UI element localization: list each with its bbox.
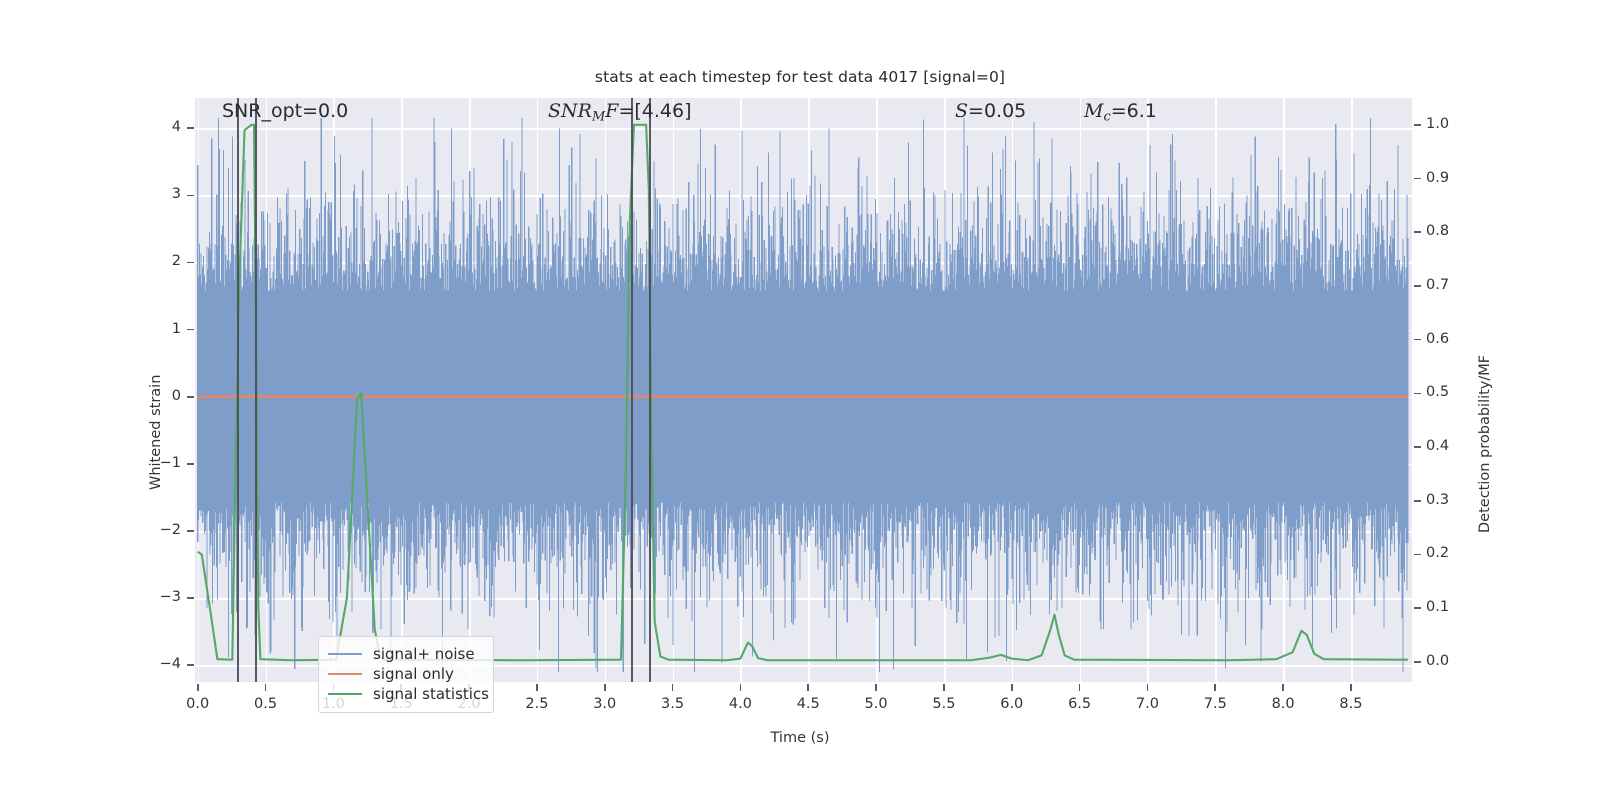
y-tick-label-left: 1 xyxy=(133,321,181,337)
y-tick-label-right: 0.9 xyxy=(1426,170,1478,186)
x-tick-label: 3.0 xyxy=(575,696,635,712)
x-tick-label: 4.0 xyxy=(710,696,770,712)
legend: signal+ noisesignal onlysignal statistic… xyxy=(318,636,494,713)
x-tick-mark xyxy=(672,684,674,691)
legend-label: signal statistics xyxy=(373,685,489,703)
annotation-snr-mf-tail: F xyxy=(605,100,618,122)
y-tick-mark-left xyxy=(187,597,194,599)
vertical-marker-line xyxy=(255,98,257,682)
y-tick-mark-right xyxy=(1414,393,1421,395)
y-tick-label-right: 0.2 xyxy=(1426,545,1478,561)
y-tick-label-right: 1.0 xyxy=(1426,116,1478,132)
plot-area xyxy=(195,98,1412,682)
x-tick-label: 4.5 xyxy=(778,696,838,712)
x-tick-label: 0.5 xyxy=(236,696,296,712)
x-tick-label: 6.0 xyxy=(982,696,1042,712)
y-tick-label-left: 3 xyxy=(133,186,181,202)
y-tick-label-right: 0.4 xyxy=(1426,438,1478,454)
x-tick-label: 0.0 xyxy=(168,696,228,712)
y-tick-mark-right xyxy=(1414,339,1421,341)
annotation-snr-mf-symbol: SNR xyxy=(548,100,592,122)
x-tick-label: 7.5 xyxy=(1185,696,1245,712)
figure-canvas: stats at each timestep for test data 401… xyxy=(0,0,1600,800)
x-tick-mark xyxy=(740,684,742,691)
annotation-s-value: =0.05 xyxy=(968,100,1026,122)
x-tick-mark xyxy=(265,684,267,691)
x-tick-mark xyxy=(875,684,877,691)
y-tick-label-left: −4 xyxy=(133,656,181,672)
x-tick-mark xyxy=(807,684,809,691)
x-tick-mark xyxy=(1214,684,1216,691)
y-tick-mark-right xyxy=(1414,446,1421,448)
annotation-s-symbol: S xyxy=(955,100,968,122)
legend-item[interactable]: signal statistics xyxy=(328,684,484,704)
y-axis-label-left: Whitened strain xyxy=(148,375,164,490)
y-tick-mark-left xyxy=(187,664,194,666)
legend-item[interactable]: signal only xyxy=(328,664,484,684)
y-tick-label-right: 0.7 xyxy=(1426,277,1478,293)
x-tick-mark xyxy=(1147,684,1149,691)
y-tick-label-left: −2 xyxy=(133,522,181,538)
page-title: stats at each timestep for test data 401… xyxy=(0,68,1600,86)
y-tick-mark-right xyxy=(1414,607,1421,609)
x-tick-label: 5.5 xyxy=(914,696,974,712)
legend-label: signal only xyxy=(373,665,454,683)
y-tick-mark-right xyxy=(1414,554,1421,556)
y-tick-mark-left xyxy=(187,262,194,264)
x-tick-label: 8.0 xyxy=(1253,696,1313,712)
y-tick-label-right: 0.0 xyxy=(1426,653,1478,669)
x-tick-mark xyxy=(1079,684,1081,691)
y-tick-mark-left xyxy=(187,195,194,197)
annotation-chirp-mass: Mc=6.1 xyxy=(1084,102,1157,124)
x-axis-label: Time (s) xyxy=(0,730,1600,746)
annotation-mc-value: =6.1 xyxy=(1111,100,1157,122)
vertical-marker-lines xyxy=(195,98,1412,682)
y-tick-mark-left xyxy=(187,329,194,331)
y-tick-mark-right xyxy=(1414,285,1421,287)
y-tick-mark-left xyxy=(187,396,194,398)
legend-label: signal+ noise xyxy=(373,645,475,663)
y-tick-label-left: 2 xyxy=(133,253,181,269)
y-tick-label-right: 0.1 xyxy=(1426,599,1478,615)
x-tick-mark xyxy=(604,684,606,691)
legend-swatch-2 xyxy=(328,673,362,675)
y-tick-mark-left xyxy=(187,127,194,129)
annotation-snr-opt: SNR_opt=0.0 xyxy=(222,102,348,121)
y-tick-label-right: 0.8 xyxy=(1426,223,1478,239)
annotation-mc-subscript: c xyxy=(1103,110,1110,125)
annotation-snr-mf-value: =[4.46] xyxy=(618,100,691,122)
y-tick-mark-right xyxy=(1414,231,1421,233)
y-tick-mark-right xyxy=(1414,124,1421,126)
x-tick-mark xyxy=(1282,684,1284,691)
y-tick-label-right: 0.3 xyxy=(1426,492,1478,508)
x-tick-mark xyxy=(1350,684,1352,691)
y-tick-mark-right xyxy=(1414,178,1421,180)
x-tick-label: 7.0 xyxy=(1117,696,1177,712)
y-tick-label-left: −3 xyxy=(133,589,181,605)
y-tick-mark-left xyxy=(187,530,194,532)
legend-swatch-3 xyxy=(328,693,362,695)
annotation-snr-mf: SNRMF=[4.46] xyxy=(548,102,692,124)
x-tick-label: 6.5 xyxy=(1050,696,1110,712)
y-tick-label-left: 4 xyxy=(133,119,181,135)
y-tick-mark-right xyxy=(1414,661,1421,663)
y-axis-label-right: Detection probability/MF xyxy=(1477,355,1493,533)
x-tick-label: 2.5 xyxy=(507,696,567,712)
legend-item[interactable]: signal+ noise xyxy=(328,644,484,664)
y-tick-mark-left xyxy=(187,463,194,465)
x-tick-mark xyxy=(197,684,199,691)
y-tick-mark-right xyxy=(1414,500,1421,502)
vertical-marker-line xyxy=(649,98,651,682)
x-tick-label: 3.5 xyxy=(643,696,703,712)
x-tick-label: 8.5 xyxy=(1321,696,1381,712)
y-tick-label-right: 0.5 xyxy=(1426,384,1478,400)
vertical-marker-line xyxy=(631,98,633,682)
annotation-snr-mf-subscript: M xyxy=(592,110,605,125)
x-tick-mark xyxy=(1011,684,1013,691)
y-tick-label-right: 0.6 xyxy=(1426,331,1478,347)
legend-swatch-1 xyxy=(328,653,362,655)
annotation-s-statistic: S=0.05 xyxy=(955,102,1026,121)
x-tick-label: 5.0 xyxy=(846,696,906,712)
vertical-marker-line xyxy=(237,98,239,682)
x-tick-mark xyxy=(943,684,945,691)
x-tick-mark xyxy=(536,684,538,691)
annotation-snr-opt-text: SNR_opt=0.0 xyxy=(222,100,348,122)
annotation-mc-symbol: M xyxy=(1084,100,1103,122)
